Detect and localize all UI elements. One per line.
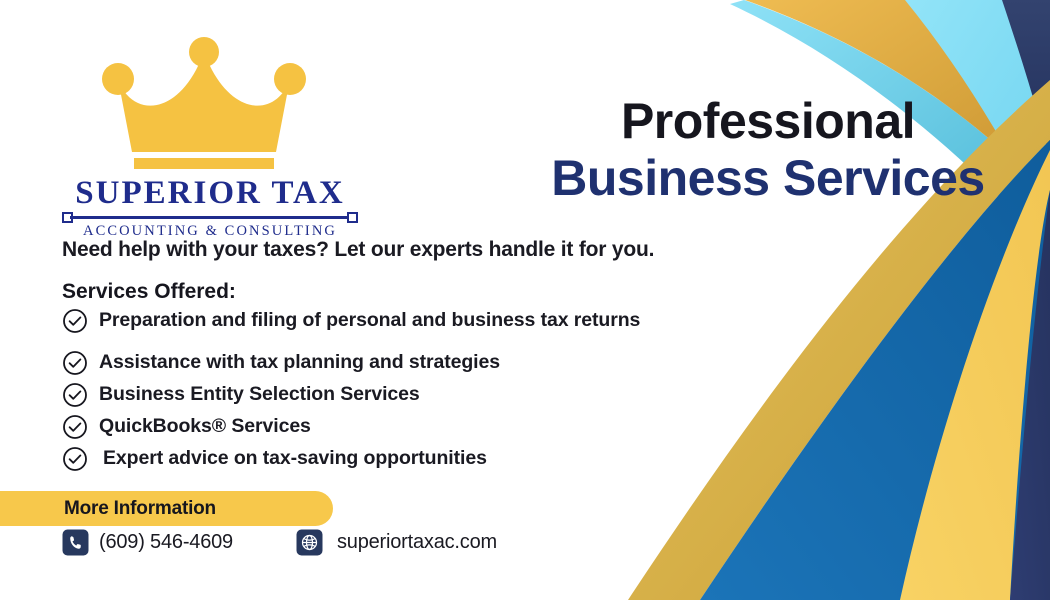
service-item-label: Preparation and filing of personal and b…: [99, 309, 640, 332]
contact-website-value: superiortaxac.com: [337, 531, 497, 554]
logo-subtitle: ACCOUNTING & CONSULTING: [62, 224, 358, 239]
logo-divider-rule: [62, 211, 358, 223]
services-list: Preparation and filing of personal and b…: [62, 305, 782, 475]
service-item: QuickBooks® Services: [62, 411, 782, 442]
service-item: Business Entity Selection Services: [62, 379, 782, 410]
services-title: Services Offered:: [62, 280, 236, 304]
service-item-label: Assistance with tax planning and strateg…: [99, 351, 500, 374]
tagline-text: Need help with your taxes? Let our exper…: [62, 238, 654, 262]
service-item-label: QuickBooks® Services: [99, 415, 311, 438]
phone-icon: [62, 529, 89, 556]
flyer-canvas: SUPERIOR TAX ACCOUNTING & CONSULTING Pro…: [0, 0, 1050, 600]
contact-phone[interactable]: (609) 546-4609: [62, 529, 233, 556]
service-item: Assistance with tax planning and strateg…: [62, 347, 782, 378]
more-information-label: More Information: [64, 498, 216, 520]
service-item-label: Business Entity Selection Services: [99, 383, 420, 406]
contact-row: (609) 546-4609 superiortaxac.com: [62, 529, 497, 556]
globe-icon: [296, 529, 323, 556]
headline-line-2: Business Services: [440, 153, 1050, 203]
logo-rule-square-right: [347, 212, 358, 223]
logo-rule-bar: [70, 216, 350, 219]
service-item: Preparation and filing of personal and b…: [62, 305, 782, 336]
contact-website[interactable]: superiortaxac.com: [296, 529, 497, 556]
logo-company-name: SUPERIOR TAX: [62, 177, 358, 210]
check-circle-icon: [62, 446, 88, 472]
crown-icon: [96, 34, 312, 174]
headline: Professional Business Services: [440, 96, 1050, 203]
check-circle-icon: [62, 350, 88, 376]
company-logo: SUPERIOR TAX ACCOUNTING & CONSULTING: [46, 34, 358, 229]
check-circle-icon: [62, 308, 88, 334]
headline-line-1: Professional: [440, 96, 1050, 146]
more-information-banner: More Information: [0, 491, 333, 526]
check-circle-icon: [62, 414, 88, 440]
check-circle-icon: [62, 382, 88, 408]
service-item-label: Expert advice on tax-saving opportunitie…: [99, 447, 487, 470]
service-item: Expert advice on tax-saving opportunitie…: [62, 443, 782, 474]
contact-phone-value: (609) 546-4609: [99, 531, 233, 554]
